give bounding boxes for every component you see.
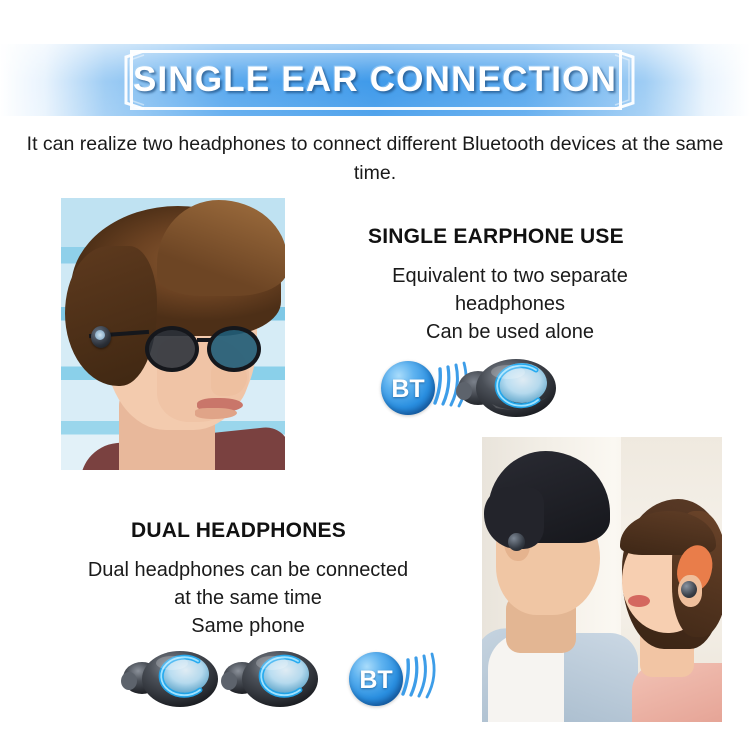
sunglasses-lens-left — [145, 326, 199, 372]
product-feature-page: SINGLE EAR CONNECTION It can realize two… — [0, 0, 750, 750]
single-body-line-1: Equivalent to two separate — [350, 262, 670, 290]
earbud-single-icon — [452, 352, 560, 424]
dual-headphones-body: Dual headphones can be connected at the … — [48, 556, 448, 640]
dual-body-line-1: Dual headphones can be connected — [48, 556, 448, 584]
man-sunglasses — [145, 324, 275, 372]
bluetooth-badge-dual: BT — [349, 648, 449, 710]
page-subtitle: It can realize two headphones to connect… — [18, 130, 732, 188]
woman-worn-earbud-icon — [681, 581, 697, 598]
earbud-dual-right-icon — [218, 644, 322, 714]
bt-signal-waves-icon — [393, 648, 449, 706]
single-earphone-body: Equivalent to two separate headphones Ca… — [350, 262, 670, 346]
single-earphone-heading: SINGLE EARPHONE USE — [368, 225, 624, 249]
sunglasses-bridge — [197, 338, 211, 342]
man-worn-earbud-icon — [508, 533, 525, 551]
page-title: SINGLE EAR CONNECTION — [0, 44, 750, 116]
dual-body-line-3: Same phone — [48, 612, 448, 640]
dual-headphones-heading: DUAL HEADPHONES — [131, 519, 346, 543]
photo-couple-dual-earbuds — [482, 437, 722, 722]
dual-body-line-2: at the same time — [48, 584, 448, 612]
man-denim-shirt-right — [564, 633, 638, 722]
photo-man-single-earbud — [61, 198, 285, 470]
single-body-line-3: Can be used alone — [350, 318, 670, 346]
man-worn-earbud-icon — [91, 326, 111, 348]
sunglasses-lens-right — [207, 326, 261, 372]
single-body-line-2: headphones — [350, 290, 670, 318]
earbud-dual-left-icon — [118, 644, 222, 714]
woman-lips — [628, 595, 650, 607]
